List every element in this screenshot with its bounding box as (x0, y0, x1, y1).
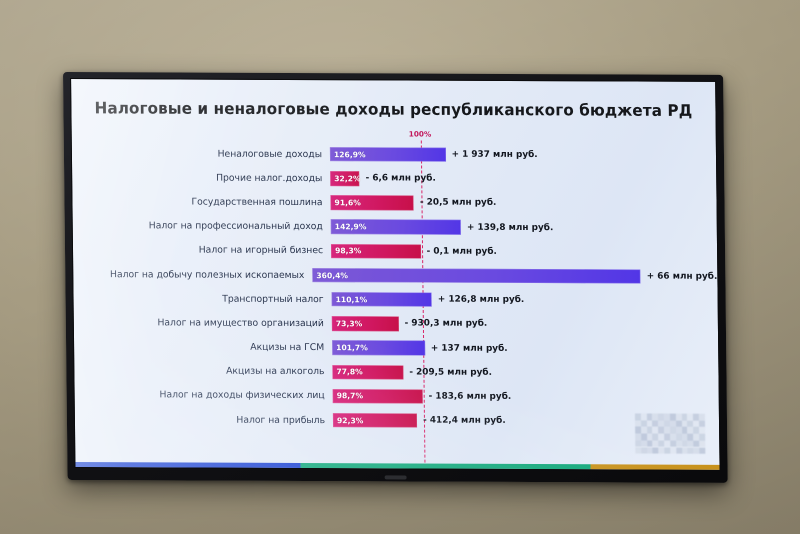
chart-bar-annotation: - 209,5 млн руб. (409, 367, 492, 377)
chart-bar-annotation: + 66 млн руб. (647, 272, 718, 282)
chart-bar: 360,4% (312, 268, 641, 284)
chart-bar-value: 126,9% (330, 150, 366, 159)
chart-bar-annotation: - 0,1 млн руб. (427, 246, 497, 256)
chart-bar-value: 142,9% (331, 222, 367, 231)
chart-row: Налог на профессиональный доход142,9%+ 1… (73, 214, 717, 241)
chart-bar-value: 110,1% (332, 295, 368, 304)
chart-category-label: Налог на доходы физических лиц (75, 389, 333, 401)
reference-line-label: 100% (409, 130, 432, 139)
footer-stripe-segment-gold (591, 464, 720, 470)
chart-bar-annotation: + 1 937 млн руб. (452, 150, 538, 160)
chart-category-label: Налог на имущество организаций (74, 317, 332, 329)
chart-bar: 92,3% (333, 413, 417, 428)
chart-bar: 98,7% (333, 389, 423, 404)
chart-category-label: Налог на прибыль (75, 414, 333, 426)
chart-row: Налог на имущество организаций73,3%- 930… (74, 310, 718, 337)
chart-bar-value: 98,3% (331, 246, 361, 255)
chart-bar: 101,7% (332, 340, 425, 355)
chart-bar-value: 360,4% (312, 271, 348, 280)
chart-row: Налог на прибыль92,3%- 412,4 млн руб. (75, 407, 719, 434)
chart-bar: 77,8% (332, 365, 403, 380)
watermark-cell (699, 447, 705, 454)
chart-bar-area: 360,4%+ 66 млн руб. (312, 263, 717, 289)
chart-row: Налог на игорный бизнес98,3%- 0,1 млн ру… (73, 238, 717, 265)
footer-stripe (75, 462, 719, 470)
footer-stripe-segment-blue (75, 462, 300, 468)
room-scene: Налоговые и неналоговые доходы республик… (0, 0, 800, 534)
chart-category-label: Акцизы на ГСМ (74, 341, 332, 353)
chart-bar-annotation: + 139,8 млн руб. (467, 222, 553, 232)
chart-bar-annotation: - 412,4 млн руб. (423, 416, 506, 426)
chart-bar-value: 92,3% (333, 416, 363, 425)
chart-category-label: Налог на игорный бизнес (73, 244, 331, 256)
chart-category-label: Налог на профессиональный доход (73, 220, 331, 232)
chart-bar-area: 110,1%+ 126,8 млн руб. (331, 287, 717, 313)
chart-bar-annotation: + 126,8 млн руб. (438, 295, 524, 305)
tv-screen: Налоговые и неналоговые доходы республик… (70, 78, 720, 471)
watermark-row (635, 447, 705, 454)
chart-category-label: Налог на добычу полезных ископаемых (73, 269, 312, 281)
chart-bar-area: 77,8%- 209,5 млн руб. (332, 360, 718, 386)
bar-chart: Неналоговые доходы126,9%+ 1 937 млн руб.… (72, 141, 719, 434)
photo-watermark (635, 413, 705, 453)
chart-category-label: Акцизы на алкоголь (74, 365, 332, 377)
chart-bar-area: 98,7%- 183,6 млн руб. (333, 384, 719, 410)
chart-bar: 91,6% (330, 195, 414, 210)
chart-bar-value: 77,8% (332, 367, 362, 376)
watermark-cell (699, 420, 705, 427)
chart-bar-area: 101,7%+ 137 млн руб. (332, 336, 718, 362)
chart-bar: 98,3% (331, 244, 421, 259)
chart-row: Налог на добычу полезных ископаемых360,4… (73, 262, 717, 289)
chart-bar-annotation: - 6,6 млн руб. (366, 174, 436, 184)
chart-category-label: Транспортный налог (74, 293, 332, 305)
watermark-cell (699, 427, 705, 434)
chart-row: Неналоговые доходы126,9%+ 1 937 млн руб. (72, 141, 716, 168)
chart-bar-value: 73,3% (332, 319, 362, 328)
wall-mounted-tv: Налоговые и неналоговые доходы республик… (63, 72, 728, 483)
chart-bar-value: 32,2% (330, 174, 360, 183)
watermark-cell (699, 441, 705, 448)
chart-bar-value: 101,7% (332, 343, 368, 352)
chart-bar-annotation: - 20,5 млн руб. (420, 198, 497, 208)
presentation-slide: Налоговые и неналоговые доходы республик… (71, 79, 719, 470)
watermark-cell (699, 434, 705, 441)
chart-bar: 73,3% (332, 316, 399, 331)
chart-bar-area: 32,2%- 6,6 млн руб. (330, 166, 716, 192)
chart-bar-annotation: - 930,3 млн руб. (405, 319, 488, 329)
chart-row: Государственная пошлина91,6%- 20,5 млн р… (72, 189, 716, 216)
chart-bar-area: 98,3%- 0,1 млн руб. (331, 239, 717, 265)
chart-bar: 32,2% (330, 171, 359, 186)
chart-bar-annotation: + 137 млн руб. (431, 343, 508, 353)
chart-category-label: Прочие налог.доходы (72, 172, 330, 184)
tv-bezel: Налоговые и неналоговые доходы республик… (63, 72, 728, 483)
chart-row: Налог на доходы физических лиц98,7%- 183… (75, 383, 719, 410)
footer-stripe-segment-green (301, 462, 591, 469)
chart-row: Прочие налог.доходы32,2%- 6,6 млн руб. (72, 165, 716, 192)
chart-bar-area: 91,6%- 20,5 млн руб. (330, 191, 716, 217)
chart-bar-area: 142,9%+ 139,8 млн руб. (331, 215, 717, 241)
chart-bar: 110,1% (332, 292, 432, 307)
chart-bar-value: 91,6% (330, 198, 360, 207)
chart-bar: 142,9% (331, 220, 461, 235)
chart-row: Акцизы на алкоголь77,8%- 209,5 млн руб. (74, 359, 718, 386)
chart-row: Акцизы на ГСМ101,7%+ 137 млн руб. (74, 335, 718, 362)
chart-bar-annotation: - 183,6 млн руб. (429, 392, 512, 402)
chart-bar-area: 126,9%+ 1 937 млн руб. (330, 142, 716, 168)
chart-row: Транспортный налог110,1%+ 126,8 млн руб. (73, 286, 717, 313)
page-title: Налоговые и неналоговые доходы республик… (71, 99, 715, 121)
chart-category-label: Государственная пошлина (72, 196, 330, 208)
chart-category-label: Неналоговые доходы (72, 148, 330, 160)
chart-bar-area: 73,3%- 930,3 млн руб. (332, 311, 718, 337)
chart-bar-value: 98,7% (333, 392, 363, 401)
chart-bar: 126,9% (330, 147, 446, 162)
